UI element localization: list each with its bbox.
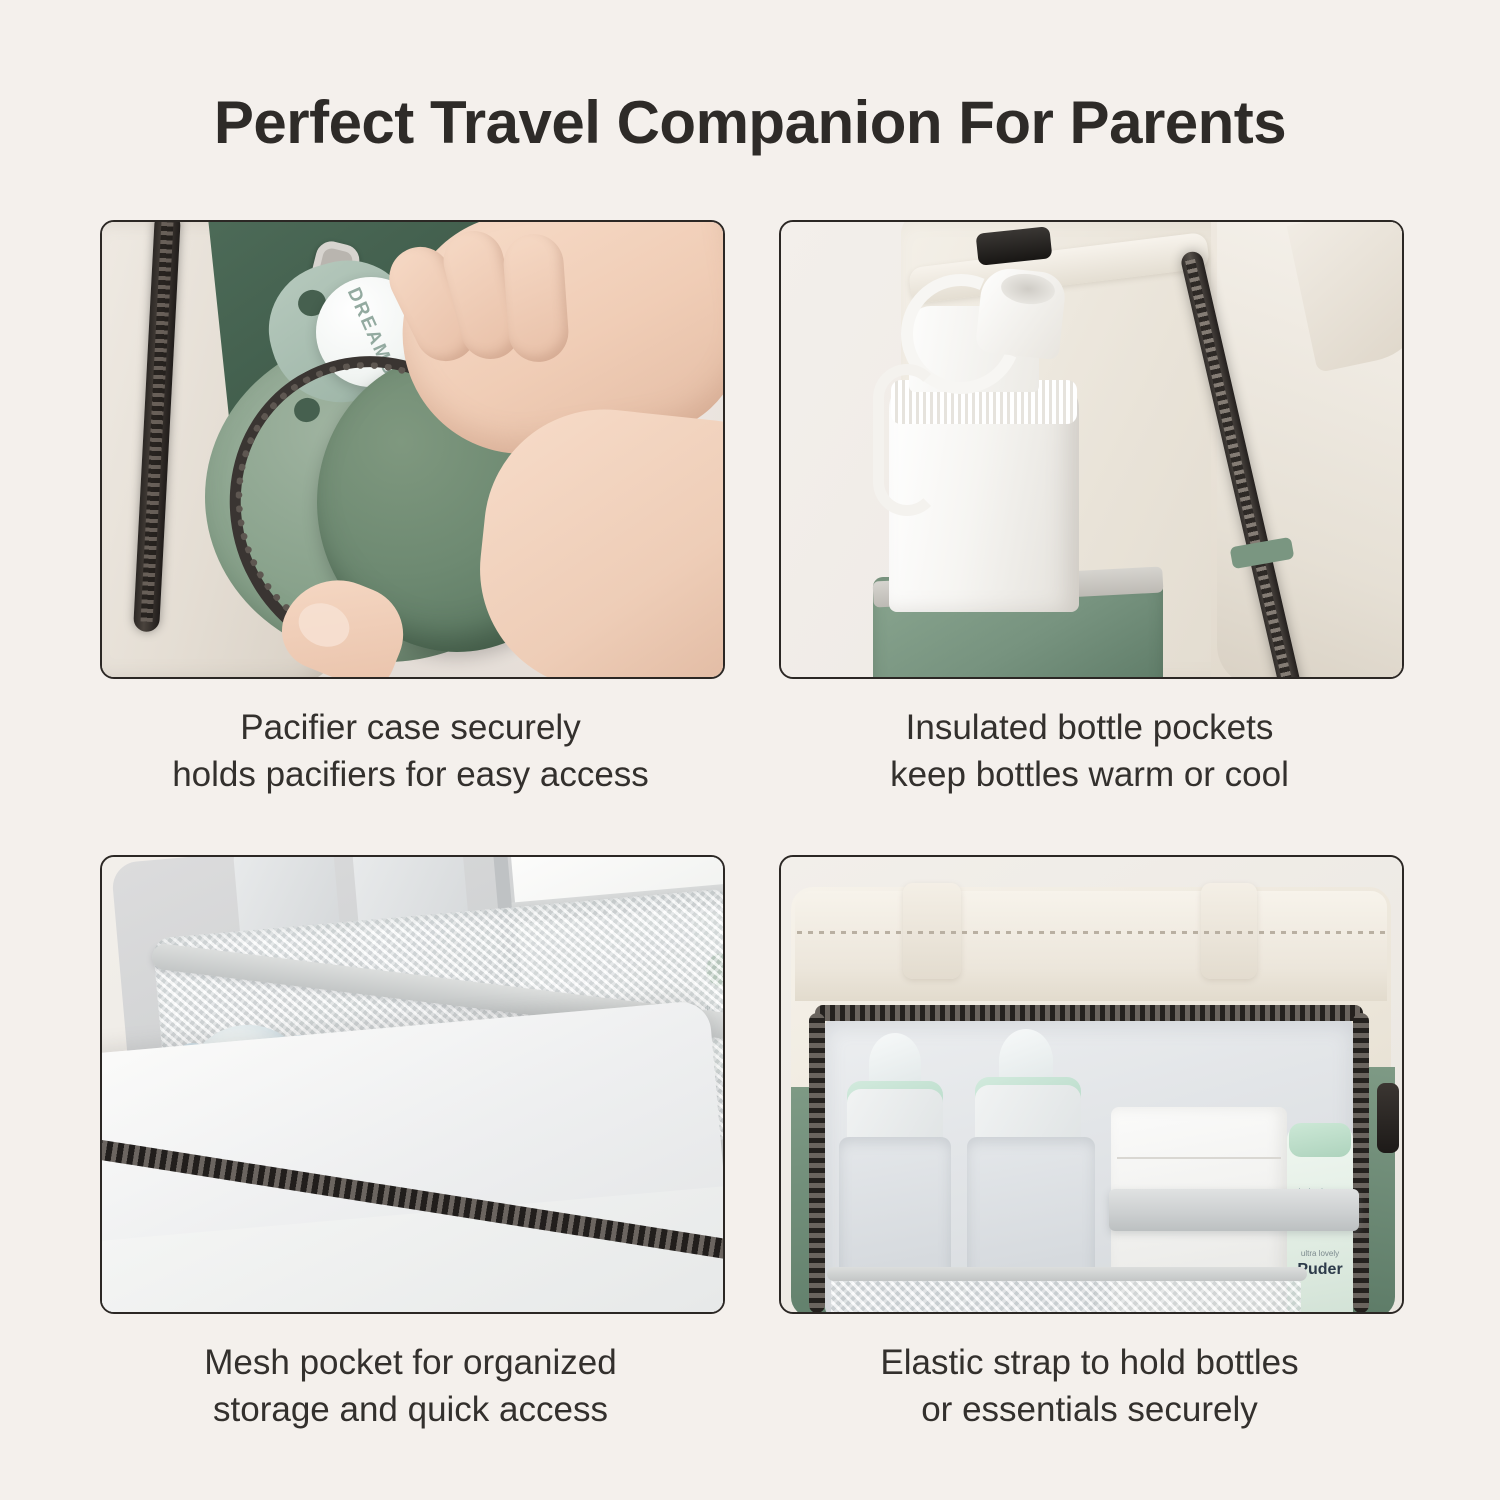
feature-caption-pacifier-case: Pacifier case securely holds pacifiers f… [100, 705, 721, 798]
feature-caption-mesh-pocket: Mesh pocket for organized storage and qu… [100, 1340, 721, 1433]
feature-cell-elastic-strap: babydream ultra lovely Puder Elastic str… [779, 855, 1400, 1433]
caption-line-1: Insulated bottle pockets [779, 705, 1400, 752]
feature-image-insulated-bottle-pocket[interactable] [779, 220, 1404, 679]
powder-bottle-cap [1289, 1123, 1351, 1157]
elastic-strap [1109, 1189, 1359, 1231]
caption-line-1: Mesh pocket for organized [100, 1340, 721, 1387]
feature-image-mesh-pocket[interactable]: ultra lovely Puder [100, 855, 725, 1314]
infographic-page: Perfect Travel Companion For Parents [0, 0, 1500, 1500]
row-spacer [100, 798, 1400, 855]
side-pull-tab [1377, 1083, 1399, 1153]
feature-image-pacifier-case[interactable]: DREAMS [100, 220, 725, 679]
feature-row-top: DREAMS Pacifier case securely holds paci… [100, 220, 1400, 798]
mesh-elastic-band [827, 1267, 1307, 1281]
main-zipper-left [809, 1013, 825, 1313]
powder-bottle-subtitle: ultra lovely [1287, 1249, 1353, 1258]
feature-caption-elastic-strap: Elastic strap to hold bottles or essenti… [779, 1340, 1400, 1433]
feature-cell-pacifier-case: DREAMS Pacifier case securely holds paci… [100, 220, 721, 798]
caption-line-2: holds pacifiers for easy access [100, 752, 721, 799]
feature-image-elastic-strap[interactable]: babydream ultra lovely Puder [779, 855, 1404, 1314]
main-zipper-right [1353, 1013, 1369, 1313]
feature-grid: DREAMS Pacifier case securely holds paci… [100, 220, 1400, 1433]
main-zipper-top [815, 1005, 1363, 1021]
caption-line-1: Elastic strap to hold bottles [779, 1340, 1400, 1387]
top-stitching [797, 931, 1385, 934]
diaper-fold-line [1117, 1157, 1281, 1159]
caption-line-2: or essentials securely [779, 1387, 1400, 1434]
caption-line-1: Pacifier case securely [100, 705, 721, 752]
bottle-side-handle [873, 364, 941, 516]
caption-line-2: keep bottles warm or cool [779, 752, 1400, 799]
feature-caption-insulated-bottle-pocket: Insulated bottle pockets keep bottles wa… [779, 705, 1400, 798]
caption-line-2: storage and quick access [100, 1387, 721, 1434]
feature-cell-insulated-bottle-pocket: Insulated bottle pockets keep bottles wa… [779, 220, 1400, 798]
page-title: Perfect Travel Companion For Parents [0, 88, 1500, 157]
bag-top-band [795, 891, 1387, 1001]
feature-cell-mesh-pocket: ultra lovely Puder [100, 855, 721, 1433]
feature-row-bottom: ultra lovely Puder [100, 855, 1400, 1433]
finger-ring [502, 232, 571, 364]
